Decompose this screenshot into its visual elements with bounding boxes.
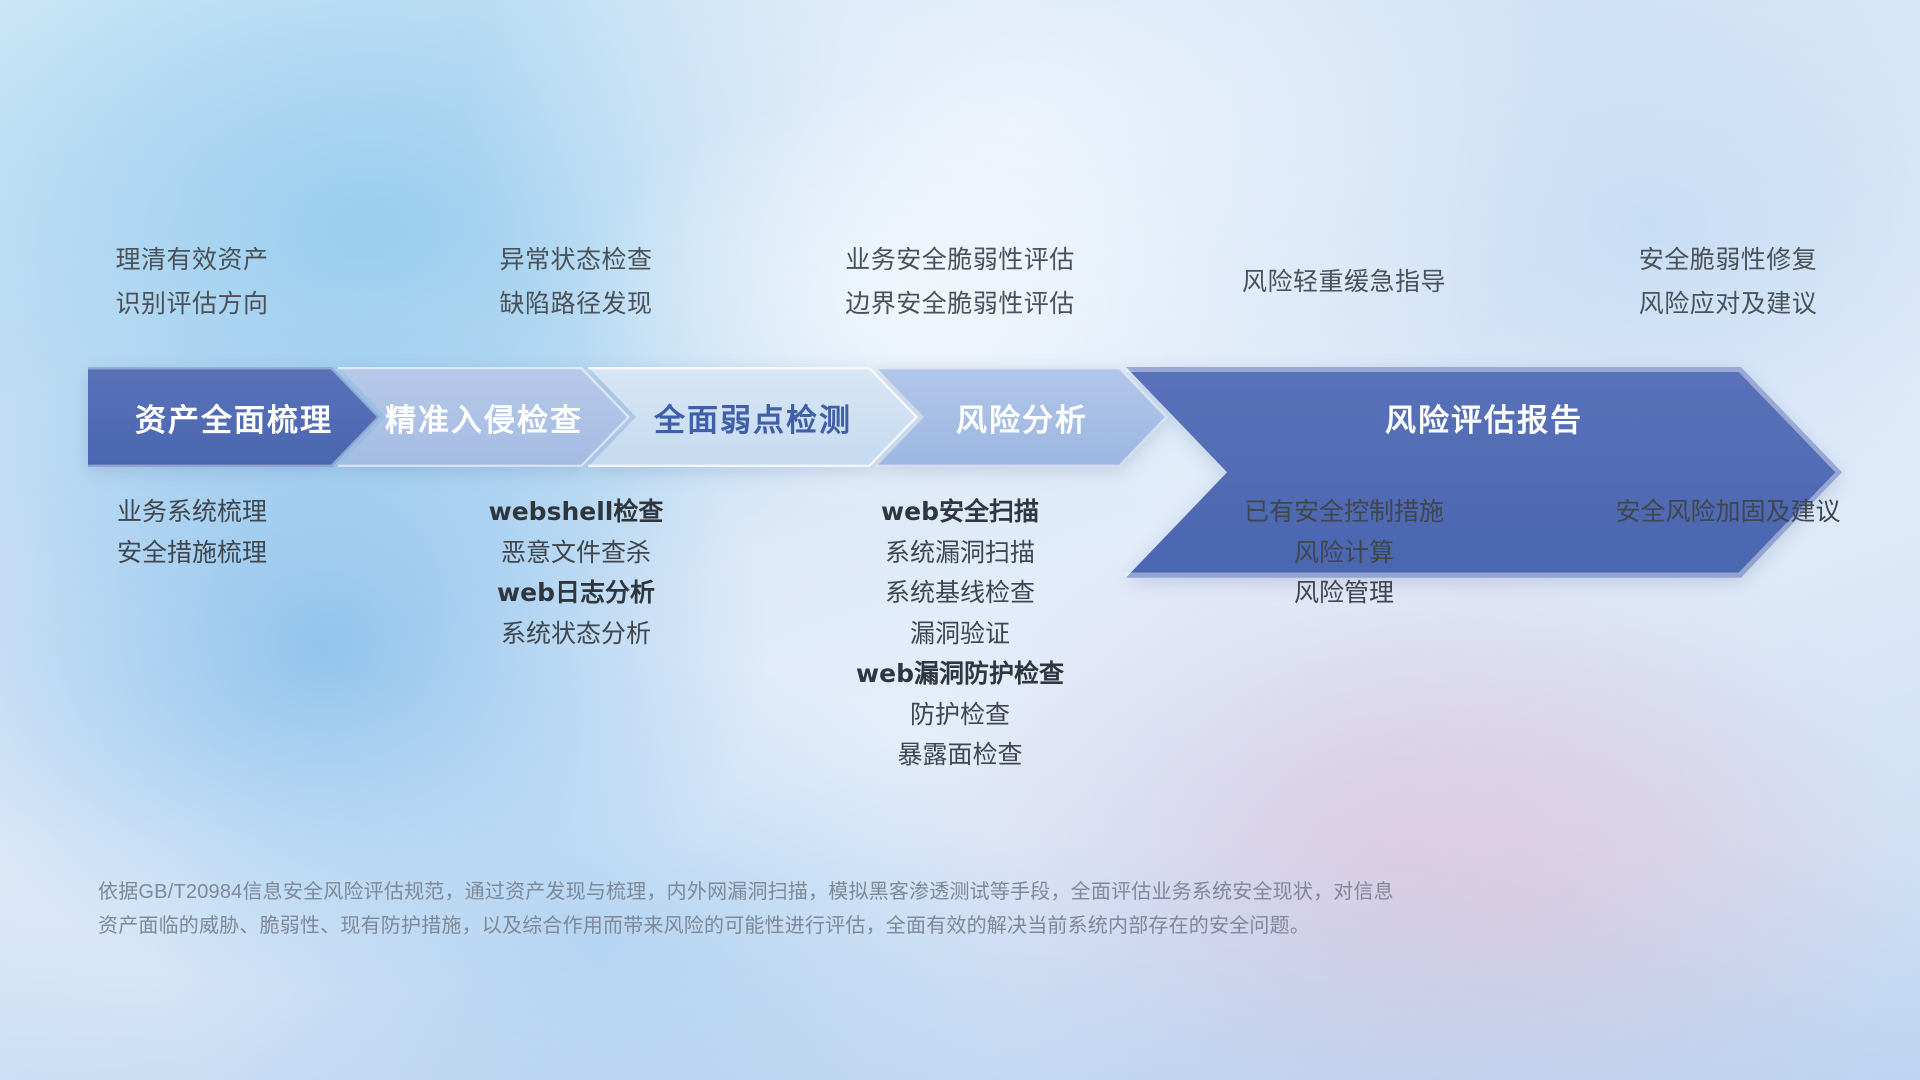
stage-top-labels-1: 理清有效资产 识别评估方向 [0,236,384,328]
stage-arrow-label: 风险分析 [956,395,1088,440]
list-item: 风险计算 [1152,533,1536,574]
stage-arrow-label: 风险评估报告 [1385,395,1583,440]
footer-line-1: 依据GB/T20984信息安全风险评估规范，通过资产发现与梳理，内外网漏洞扫描，… [98,875,1598,909]
process-arrow-band: 资产全面梳理 精准入侵检查 [88,367,1842,467]
list-item: 已有安全控制措施 [1152,492,1536,533]
top-label: 理清有效资产 [115,238,268,283]
footer-description: 依据GB/T20984信息安全风险评估规范，通过资产发现与梳理，内外网漏洞扫描，… [98,875,1598,943]
stage-top-labels-row: 理清有效资产 识别评估方向 异常状态检查 缺陷路径发现 业务安全脆弱性评估 边界… [0,236,1920,328]
top-label: 边界安全脆弱性评估 [845,282,1075,327]
stage-arrow-3[interactable]: 全面弱点检测 [588,367,918,467]
list-item: web日志分析 [384,573,768,614]
stage-arrow-4[interactable]: 风险分析 [876,367,1168,467]
stage-arrow-label: 全面弱点检测 [654,395,852,440]
stage-arrow-2[interactable]: 精准入侵检查 [338,367,630,467]
stage-arrow-label: 资产全面梳理 [135,395,333,440]
top-label: 业务安全脆弱性评估 [845,238,1075,283]
stage-detail-lists-row: 业务系统梳理 安全措施梳理 webshell检查 恶意文件查杀 web日志分析 … [0,492,1920,776]
top-label: 识别评估方向 [115,282,268,327]
stage-top-labels-3: 业务安全脆弱性评估 边界安全脆弱性评估 [768,236,1152,328]
stage-detail-list-2: webshell检查 恶意文件查杀 web日志分析 系统状态分析 [384,492,768,654]
stage-top-labels-4: 风险轻重缓急指导 [1152,236,1536,328]
stage-detail-list-1: 业务系统梳理 安全措施梳理 [0,492,384,573]
list-item: 恶意文件查杀 [384,533,768,574]
list-item: webshell检查 [384,492,768,533]
list-item: web漏洞防护检查 [768,654,1152,695]
stage-detail-list-5: 安全风险加固及建议 [1536,492,1920,533]
stage-detail-list-4: 已有安全控制措施 风险计算 风险管理 [1152,492,1536,614]
list-item: 暴露面检查 [768,735,1152,776]
footer-line-2: 资产面临的威胁、脆弱性、现有防护措施，以及综合作用而带来风险的可能性进行评估，全… [98,909,1598,943]
list-item: web安全扫描 [768,492,1152,533]
list-item: 风险管理 [1152,573,1536,614]
list-item: 防护检查 [768,695,1152,736]
stage-top-labels-5: 安全脆弱性修复 风险应对及建议 [1536,236,1920,328]
list-item: 业务系统梳理 [0,492,384,533]
top-label: 缺陷路径发现 [499,282,652,327]
top-label: 风险轻重缓急指导 [1242,260,1446,305]
stage-detail-list-3: web安全扫描 系统漏洞扫描 系统基线检查 漏洞验证 web漏洞防护检查 防护检… [768,492,1152,776]
list-item: 漏洞验证 [768,614,1152,655]
list-item: 系统漏洞扫描 [768,533,1152,574]
list-item: 系统基线检查 [768,573,1152,614]
stage-arrow-label: 精准入侵检查 [385,395,583,440]
list-item: 安全风险加固及建议 [1536,492,1920,533]
stage-arrow-1[interactable]: 资产全面梳理 [88,367,380,467]
list-item: 系统状态分析 [384,614,768,655]
top-label: 风险应对及建议 [1639,282,1818,327]
top-label: 异常状态检查 [499,238,652,283]
stage-arrow-5[interactable]: 风险评估报告 [1126,367,1842,467]
top-label: 安全脆弱性修复 [1639,238,1818,283]
list-item: 安全措施梳理 [0,533,384,574]
stage-top-labels-2: 异常状态检查 缺陷路径发现 [384,236,768,328]
